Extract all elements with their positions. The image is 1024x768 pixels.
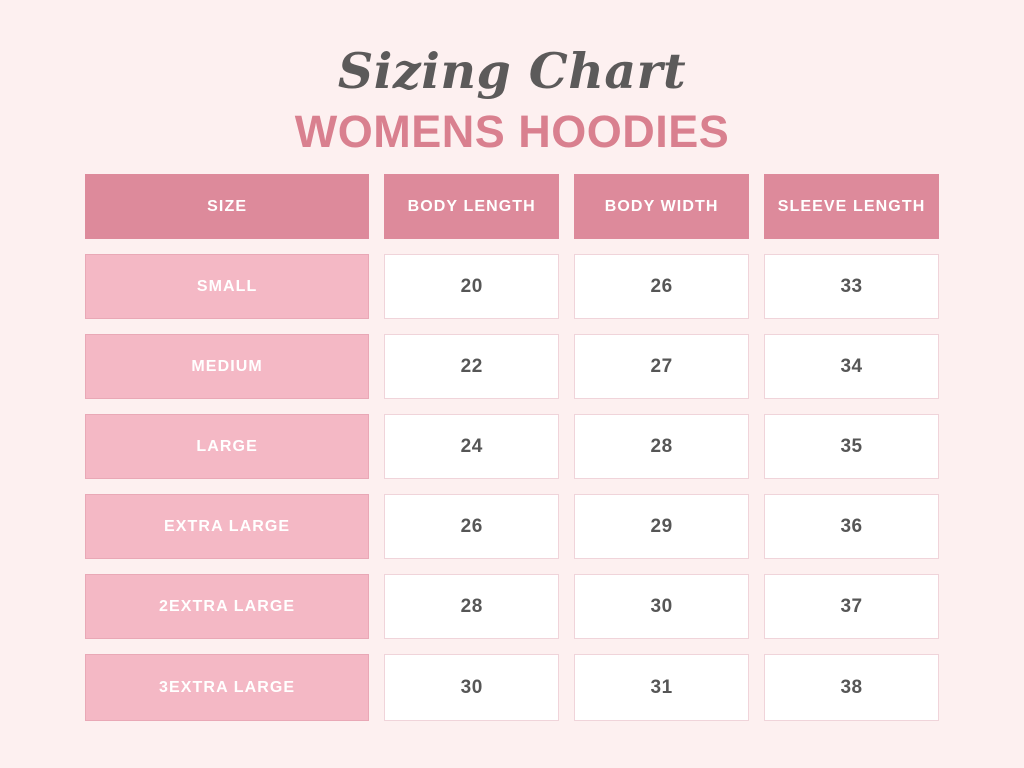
sleeve-length-value: 38 [764,654,939,721]
sleeve-length-value: 33 [764,254,939,319]
table-row: 3EXTRA LARGE 30 31 38 [85,654,939,721]
table-row: EXTRA LARGE 26 29 36 [85,494,939,559]
title-block: Sizing Chart WOMENS HOODIES [0,42,1024,158]
sleeve-length-value: 35 [764,414,939,479]
column-header-body-width: BODY WIDTH [574,174,749,239]
body-length-value: 24 [384,414,559,479]
body-width-value: 29 [574,494,749,559]
sizing-table: SIZE BODY LENGTH BODY WIDTH SLEEVE LENGT… [85,174,939,721]
body-length-value: 22 [384,334,559,399]
table-row: 2EXTRA LARGE 28 30 37 [85,574,939,639]
column-header-size: SIZE [85,174,369,239]
body-length-value: 20 [384,254,559,319]
sleeve-length-value: 37 [764,574,939,639]
sleeve-length-value: 34 [764,334,939,399]
table-row: SMALL 20 26 33 [85,254,939,319]
size-label: LARGE [85,414,369,479]
body-width-value: 31 [574,654,749,721]
sleeve-length-value: 36 [764,494,939,559]
size-label: EXTRA LARGE [85,494,369,559]
table-header-row: SIZE BODY LENGTH BODY WIDTH SLEEVE LENGT… [85,174,939,239]
table-row: MEDIUM 22 27 34 [85,334,939,399]
column-header-sleeve-length: SLEEVE LENGTH [764,174,939,239]
size-label: SMALL [85,254,369,319]
body-length-value: 30 [384,654,559,721]
size-label: 3EXTRA LARGE [85,654,369,721]
body-width-value: 28 [574,414,749,479]
body-length-value: 28 [384,574,559,639]
body-width-value: 30 [574,574,749,639]
column-header-body-length: BODY LENGTH [384,174,559,239]
body-width-value: 27 [574,334,749,399]
table-row: LARGE 24 28 35 [85,414,939,479]
size-label: 2EXTRA LARGE [85,574,369,639]
body-length-value: 26 [384,494,559,559]
page-subtitle-script: Sizing Chart [0,42,1024,100]
sizing-chart-page: Sizing Chart WOMENS HOODIES SIZE BODY LE… [0,0,1024,768]
body-width-value: 26 [574,254,749,319]
page-title: WOMENS HOODIES [0,106,1024,158]
size-label: MEDIUM [85,334,369,399]
